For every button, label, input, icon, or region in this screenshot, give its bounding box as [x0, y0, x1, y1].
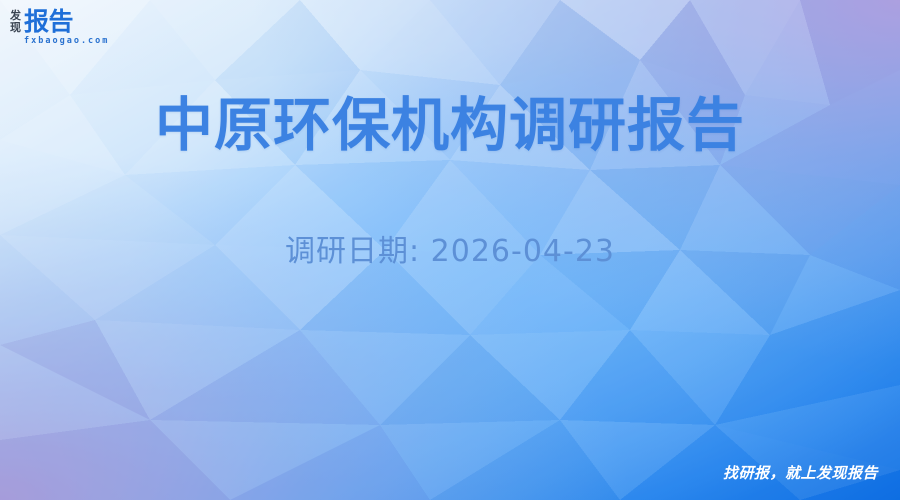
footer-tagline: 找研报，就上发现报告 — [723, 463, 878, 483]
logo-domain: fxbaogao.com — [24, 36, 109, 46]
logo-text-group: 报告 fxbaogao.com — [24, 9, 109, 46]
report-cover-slide: 发 现 报告 fxbaogao.com 中原环保机构调研报告 调研日期: 202… — [0, 0, 900, 500]
logo-mark-char-bottom: 现 — [10, 22, 21, 34]
cover-title: 中原环保机构调研报告 — [0, 92, 900, 158]
logo-wordmark: 报告 — [24, 9, 109, 34]
logo-mark: 发 现 — [10, 9, 21, 34]
brand-logo[interactable]: 发 现 报告 fxbaogao.com — [10, 9, 109, 46]
cover-subtitle: 调研日期: 2026-04-23 — [0, 232, 900, 272]
